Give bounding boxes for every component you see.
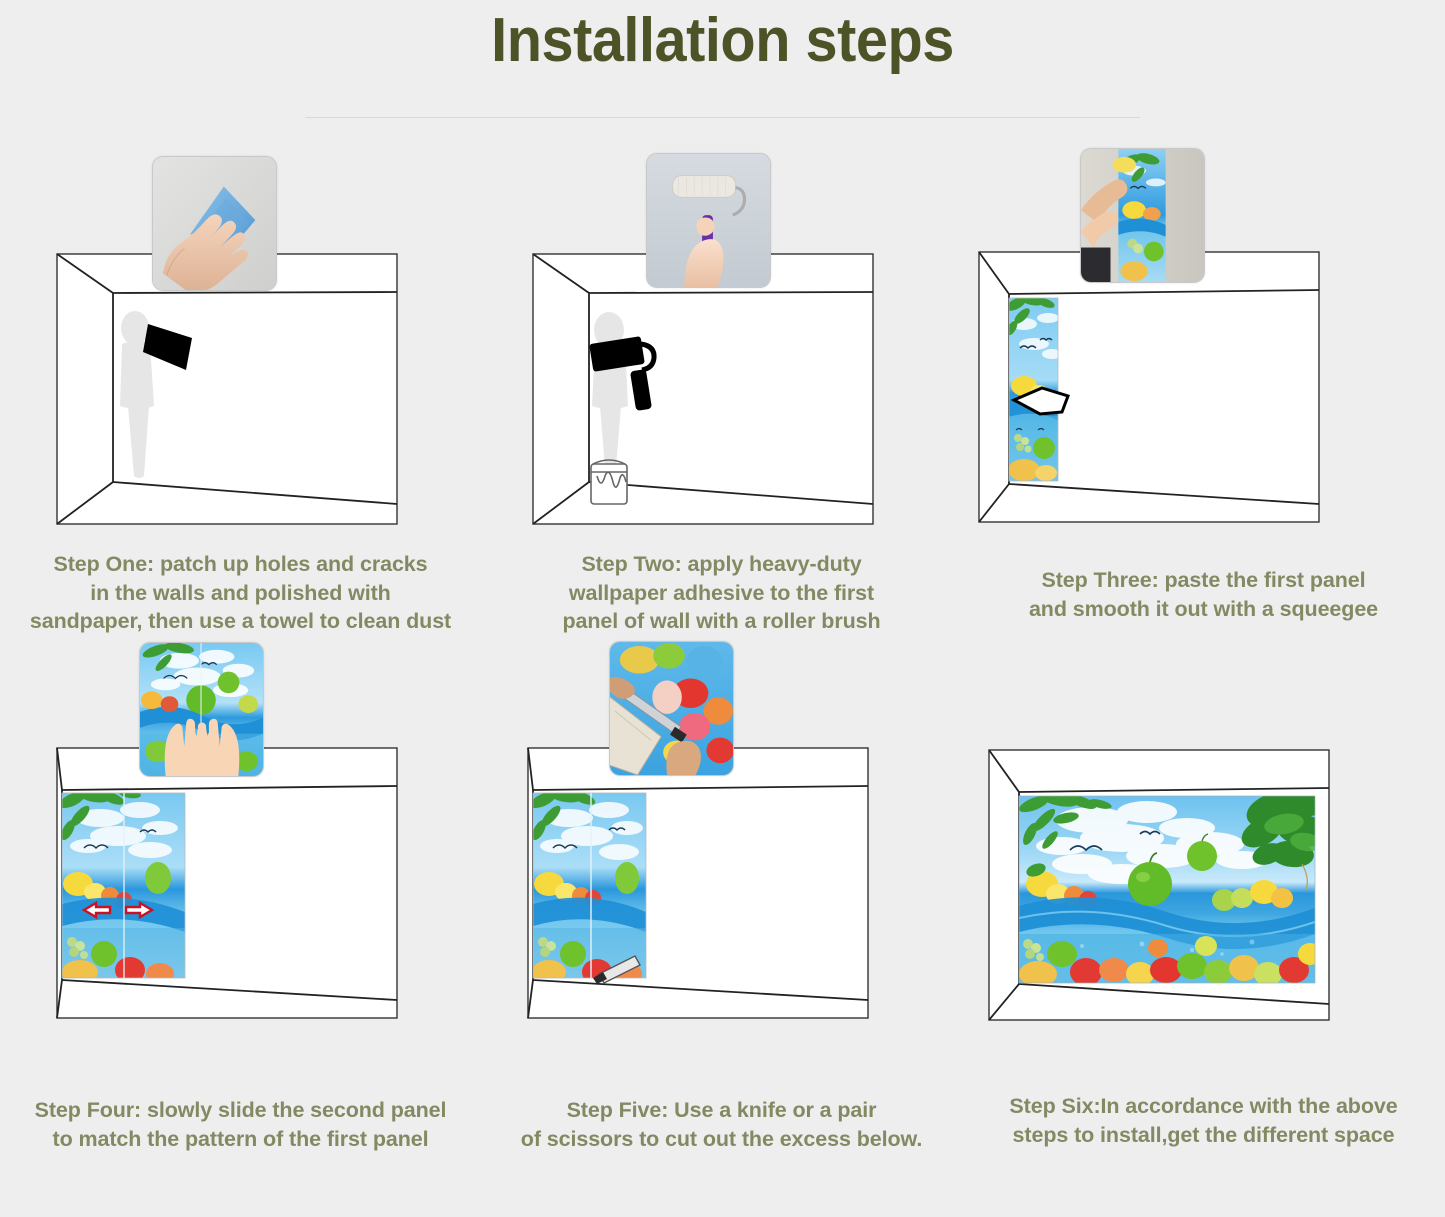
- green-apple-main: [1128, 862, 1172, 906]
- inset-photo-pasting-first-panel: [1080, 148, 1205, 283]
- caption-line: to match the pattern of the first panel: [8, 1125, 473, 1154]
- step-card-three: Step Three: paste the first panel and sm…: [962, 148, 1445, 678]
- caption-line: Step Three: paste the first panel: [970, 566, 1437, 595]
- caption-line: Step One: patch up holes and cracks: [8, 550, 473, 579]
- green-apple-2: [91, 941, 117, 967]
- step-card-five: Step Five: Use a knife or a pair of scis…: [481, 678, 962, 1208]
- caption-line: steps to install,get the different space: [970, 1121, 1437, 1150]
- title-divider: [305, 117, 1140, 118]
- caption-step-six: Step Six:In accordance with the above st…: [962, 1092, 1445, 1149]
- caption-line: Step Six:In accordance with the above: [970, 1092, 1437, 1121]
- caption-line: in the walls and polished with: [8, 579, 473, 608]
- room-diagram-six: [962, 678, 1445, 1078]
- installation-steps-grid: Step One: patch up holes and cracks in t…: [0, 148, 1445, 1208]
- green-apple: [145, 862, 171, 894]
- two-hands-on-mural-photo: [140, 643, 263, 776]
- mural-panels-two: [57, 787, 185, 985]
- caption-step-four: Step Four: slowly slide the second panel…: [0, 1096, 481, 1153]
- step-card-one: Step One: patch up holes and cracks in t…: [0, 148, 481, 678]
- pasting-first-panel-photo: [1081, 149, 1204, 282]
- inset-photo-two-hands-on-mural: [139, 642, 264, 777]
- step-card-four: Step Four: slowly slide the second panel…: [0, 678, 481, 1208]
- page-header: Installation steps: [0, 0, 1445, 118]
- caption-line: of scissors to cut out the excess below.: [489, 1125, 954, 1154]
- hands: [165, 719, 240, 776]
- inset-photo-hand-with-blue-cloth: [152, 156, 277, 291]
- yellow-sponge: [1112, 157, 1136, 173]
- inset-photo-knife-cutting-mural: [609, 641, 734, 776]
- mural-panel-1: [1004, 293, 1062, 481]
- room-perspective-drawing-finished: [962, 678, 1445, 1078]
- caption-line: panel of wall with a roller brush: [489, 607, 954, 636]
- green-apple: [1033, 437, 1055, 459]
- caption-line: and smooth it out with a squeegee: [970, 595, 1437, 624]
- green-apple-top: [1187, 841, 1217, 871]
- inset-photo-paint-roller: [646, 153, 771, 288]
- step-card-two: Step Two: apply heavy-duty wallpaper adh…: [481, 148, 962, 678]
- caption-step-three: Step Three: paste the first panel and sm…: [962, 566, 1445, 623]
- caption-line: Step Four: slowly slide the second panel: [8, 1096, 473, 1125]
- page-title: Installation steps: [51, 8, 1395, 73]
- knife-cutting-mural-photo: [610, 642, 733, 775]
- lime: [653, 643, 684, 669]
- pineapple: [620, 646, 659, 674]
- caption-line: Step Two: apply heavy-duty: [489, 550, 954, 579]
- caption-step-two: Step Two: apply heavy-duty wallpaper adh…: [481, 550, 962, 636]
- caption-step-five: Step Five: Use a knife or a pair of scis…: [481, 1096, 962, 1153]
- caption-line: Step Five: Use a knife or a pair: [489, 1096, 954, 1125]
- paint-bucket-icon: [591, 460, 627, 504]
- caption-line: wallpaper adhesive to the first: [489, 579, 954, 608]
- paint-roller-photo: [647, 154, 770, 287]
- caption-line: sandpaper, then use a towel to clean dus…: [8, 607, 473, 636]
- step-card-six: Step Six:In accordance with the above st…: [962, 678, 1445, 1208]
- hand-with-blue-cloth-photo: [153, 157, 276, 290]
- pineapple-fruit: [1008, 459, 1040, 481]
- mural-panels-two: [528, 787, 646, 985]
- full-wall-mural: [1017, 785, 1332, 987]
- caption-step-one: Step One: patch up holes and cracks in t…: [0, 550, 481, 636]
